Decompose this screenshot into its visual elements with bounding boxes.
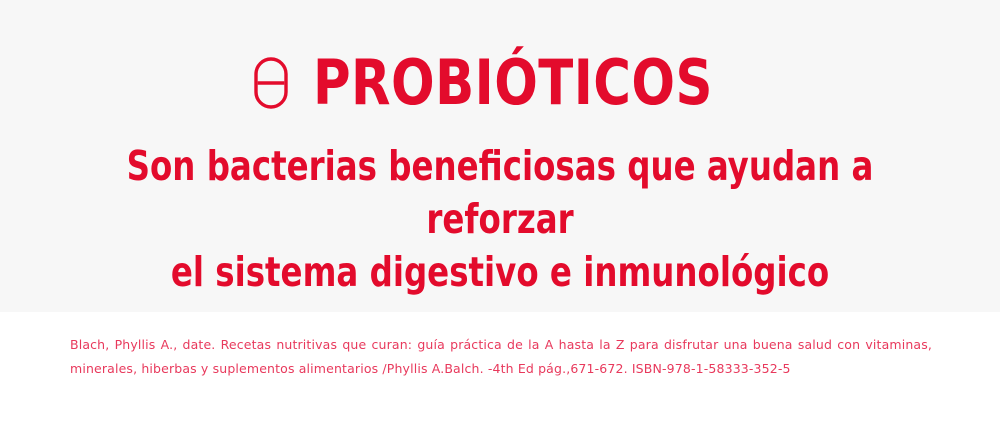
source-citation: Blach, Phyllis A., date. Recetas nutriti… — [70, 333, 932, 381]
capsule-pill-icon — [253, 56, 289, 110]
page-title: PROBIÓTICOS — [313, 52, 713, 114]
subtitle-line-2: el sistema digestivo e inmunológico — [60, 246, 940, 299]
title-row: PROBIÓTICOS — [0, 46, 1000, 120]
subtitle-line-1: Son bacterias beneficiosas que ayudan a … — [60, 140, 940, 246]
infographic-slide: PROBIÓTICOS Son bacterias beneficiosas q… — [0, 0, 1000, 430]
source-citation-text: Blach, Phyllis A., date. Recetas nutriti… — [70, 333, 932, 381]
subtitle: Son bacterias beneficiosas que ayudan a … — [0, 140, 1000, 299]
